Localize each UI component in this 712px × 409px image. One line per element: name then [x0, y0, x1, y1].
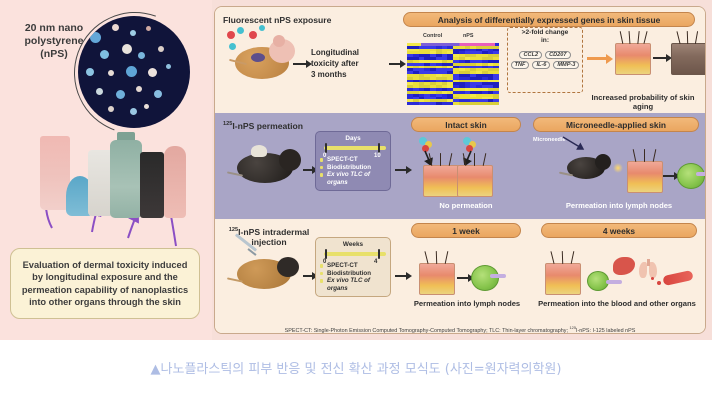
lungs-icon: [639, 259, 659, 279]
figure-caption: ▲나노플라스틱의 피부 반응 및 전신 확산 과정 모식도 (사진=원자력의학원…: [0, 358, 712, 377]
nps-particle: [166, 64, 171, 69]
heatmap-column-labels: Control nPS: [407, 33, 499, 42]
gene-list-title: >2-fold change in:: [507, 29, 583, 45]
row-nps-permeation: 125I-nPS permeation Days 0 10: [215, 113, 705, 219]
timeline-weeks: Weeks 0 4 SPECT-CT Biodistribution Ex vi…: [315, 237, 391, 297]
microneedle-mouse: [559, 153, 611, 179]
main-panel: Fluorescent nPS exposure Longitudinal to…: [214, 6, 706, 334]
blood-vessel-icon: [662, 270, 693, 286]
arrow-to-heatmap: [389, 63, 401, 65]
nps-particle: [138, 52, 145, 59]
footnote-text-after: I-nPS: I-125 labeled nPS: [576, 328, 635, 334]
skin-hairs: [546, 251, 580, 265]
nps-particle: [122, 44, 132, 54]
timeline-item: Biodistribution: [320, 270, 386, 278]
footnote-text-before: SPECT-CT: Single-Photon Emission Compute…: [285, 328, 570, 334]
arrow-to-skin: [587, 57, 607, 60]
gene-chip-list: CCL2 CD207 TNF IL-6 MMP-3: [509, 51, 581, 69]
timeline-weeks-unit: Weeks: [320, 241, 386, 248]
heatmap-grid: [407, 43, 499, 105]
timeline-weeks-bar: 0 4: [320, 249, 386, 261]
no-permeation-caption: No permeation: [411, 201, 521, 210]
heatmap-label-nps: nPS: [463, 33, 473, 39]
skin-hairs: [420, 251, 454, 265]
liver-icon: [613, 257, 635, 275]
timeline-days-unit: Days: [320, 135, 386, 142]
permeation-4weeks-caption: Permeation into the blood and other orga…: [531, 299, 703, 308]
gene-chip: CCL2: [519, 51, 542, 59]
gene-chip: TNF: [511, 61, 530, 69]
timeline-item: Ex vivo TLC of organs: [320, 277, 386, 292]
timeline-item: SPECT-CT: [320, 262, 386, 270]
fluorescent-dot: [237, 27, 244, 34]
timeline-days-items: SPECT-CT Biodistribution Ex vivo TLC of …: [320, 156, 386, 186]
heatmap-cell: [493, 102, 499, 105]
gene-chip: CD207: [545, 51, 570, 59]
skin-block-aged: [671, 43, 706, 75]
timeline-item: Ex vivo TLC of organs: [320, 171, 386, 186]
nps-particle: [100, 50, 109, 59]
skin-block-1week: [419, 263, 455, 295]
timeline-item: Biodistribution: [320, 164, 386, 172]
skin-block-normal: [615, 43, 651, 75]
nps-particle: [116, 90, 125, 99]
fluorescent-dot: [259, 25, 265, 31]
nps-particle: [90, 32, 101, 43]
nps-particle: [86, 68, 94, 76]
microneedle-pointer: [561, 135, 591, 153]
schematic-figure: 20 nm nano polystyrene (nPS): [0, 0, 712, 340]
heatmap-label-control: Control: [423, 33, 442, 39]
nps-particle: [148, 68, 157, 77]
intact-skin-banner: Intact skin: [411, 117, 521, 132]
longitudinal-toxicity-label: Longitudinal toxicity after 3 months: [311, 47, 389, 80]
lymph-node-icon: [677, 163, 705, 189]
row1-title: Fluorescent nPS exposure: [223, 15, 331, 26]
skin-hairs: [458, 153, 492, 167]
timeline-item: SPECT-CT: [320, 156, 386, 164]
microneedle-skin-banner: Microneedle-applied skin: [533, 117, 699, 132]
one-week-banner: 1 week: [411, 223, 521, 238]
arrow-1week-to-lymph: [457, 277, 469, 279]
fluorescent-dot: [249, 31, 257, 39]
green-bottle: [110, 140, 142, 218]
black-tube: [140, 152, 164, 218]
caption-bar: ▲나노플라스틱의 피부 반응 및 전신 확산 과정 모식도 (사진=원자력의학원…: [0, 340, 712, 409]
blood-droplet-icon: [657, 281, 661, 285]
arrow-to-intact-skin: [395, 169, 407, 171]
skin-block-4weeks: [545, 263, 581, 295]
rose-bottle: [164, 146, 186, 218]
nps-particle: [158, 46, 164, 52]
nps-particle: [108, 106, 114, 112]
black-mouse-illustration: [227, 143, 303, 189]
gene-chip: MMP-3: [553, 61, 579, 69]
heatmap-group-bar: [421, 43, 495, 46]
fluorescent-dot: [229, 43, 236, 50]
nps-particle: [130, 30, 136, 36]
injection-mouse-illustration: [227, 249, 303, 295]
row3-title-line2: injection: [221, 237, 317, 248]
nps-particle: [112, 24, 119, 31]
blood-droplet-icon: [651, 277, 654, 280]
row-intradermal-injection: 125I-nPS intradermal injection Weeks: [215, 219, 705, 323]
nps-callout-line1: 20 nm nano: [8, 22, 100, 35]
nps-particle: [154, 90, 162, 98]
arrow-to-longitudinal: [293, 63, 307, 65]
arrow-to-timeline-days: [303, 169, 313, 171]
gene-heatmap: Control nPS: [407, 33, 499, 105]
arrow-to-timeline-weeks: [303, 275, 313, 277]
row-fluorescent-exposure: Fluorescent nPS exposure Longitudinal to…: [215, 7, 705, 113]
skin-block-intact-2: [457, 165, 493, 197]
evaluation-summary: Evaluation of dermal toxicity induced by…: [10, 248, 200, 319]
mouse-illustration: [229, 35, 295, 83]
timeline-days: Days 0 10 SPECT-CT Biodistribution Ex vi…: [315, 131, 391, 191]
skin-hairs: [424, 153, 458, 167]
nps-particle: [136, 86, 142, 92]
left-panel: 20 nm nano polystyrene (nPS): [0, 0, 212, 340]
gene-analysis-banner: Analysis of differentially expressed gen…: [403, 12, 695, 27]
abbreviation-footnote: SPECT-CT: Single-Photon Emission Compute…: [215, 323, 705, 334]
nps-particle: [126, 66, 137, 77]
nps-particle: [130, 108, 137, 115]
timeline-days-bar: 0 10: [320, 143, 386, 155]
nps-particle: [96, 88, 103, 95]
row1-outcome-caption: Increased probability of skin aging: [581, 93, 705, 111]
nps-particle: [146, 26, 151, 31]
skin-hairs: [616, 31, 650, 45]
skin-hairs: [672, 31, 706, 45]
skin-block-intact: [423, 165, 459, 197]
skin-block-microneedle: [627, 161, 663, 193]
nps-particle-circle: [78, 16, 190, 128]
timeline-weeks-items: SPECT-CT Biodistribution Ex vivo TLC of …: [320, 262, 386, 292]
permeation-lymph-caption: Permeation into lymph nodes: [537, 201, 701, 210]
lymph-node-icon: [587, 271, 609, 291]
nps-particle: [144, 104, 149, 109]
skin-hairs: [628, 149, 662, 163]
row2-title-superscript: 125: [223, 121, 232, 127]
arrow-to-lymph-node: [663, 175, 675, 177]
arrow-to-1week: [395, 275, 407, 277]
arrow-to-aged-skin: [653, 57, 667, 59]
row2-title-text: I-nPS permeation: [232, 121, 303, 131]
lymph-node-icon: [471, 265, 499, 291]
nps-glow: [613, 163, 623, 173]
nps-particle: [108, 70, 114, 76]
permeation-1week-caption: Permeation into lymph nodes: [405, 299, 529, 308]
footnote-row: SPECT-CT: Single-Photon Emission Compute…: [215, 323, 705, 334]
fluorescent-dot: [227, 31, 235, 39]
four-weeks-banner: 4 weeks: [541, 223, 697, 238]
row3-title-line1: I-nPS intradermal: [238, 227, 309, 237]
row2-title: 125I-nPS permeation: [223, 119, 303, 131]
row3-title-superscript: 125: [229, 227, 238, 233]
gene-chip: IL-6: [532, 61, 550, 69]
